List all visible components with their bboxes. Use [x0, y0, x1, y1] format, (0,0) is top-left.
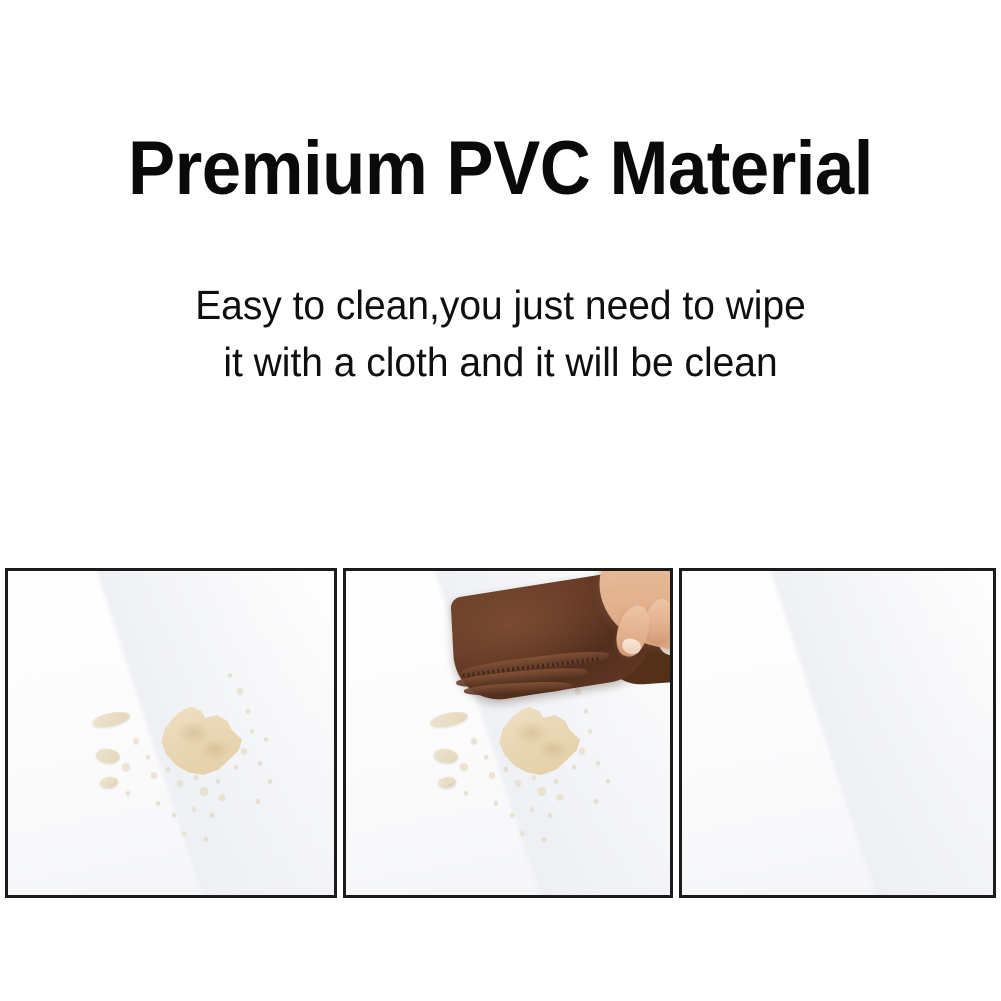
cleaning-cloth-and-hand — [442, 571, 670, 723]
panel-spill-photo — [8, 571, 334, 895]
panel-wiping — [343, 568, 673, 898]
panel-spill — [5, 568, 337, 898]
panel-clean-photo — [682, 571, 993, 895]
pvc-mat — [682, 571, 993, 895]
demo-panel-strip — [0, 568, 1001, 898]
page-title: Premium PVC Material — [35, 126, 966, 212]
panel-clean — [679, 568, 996, 898]
pvc-mat — [8, 571, 334, 895]
page-subtitle-line-1: Easy to clean,you just need to wipe — [25, 277, 976, 334]
page-subtitle-line-2: it with a cloth and it will be clean — [25, 334, 976, 391]
panel-wiping-photo — [346, 571, 670, 895]
page-subtitle: Easy to clean,you just need to wipe it w… — [25, 277, 976, 391]
